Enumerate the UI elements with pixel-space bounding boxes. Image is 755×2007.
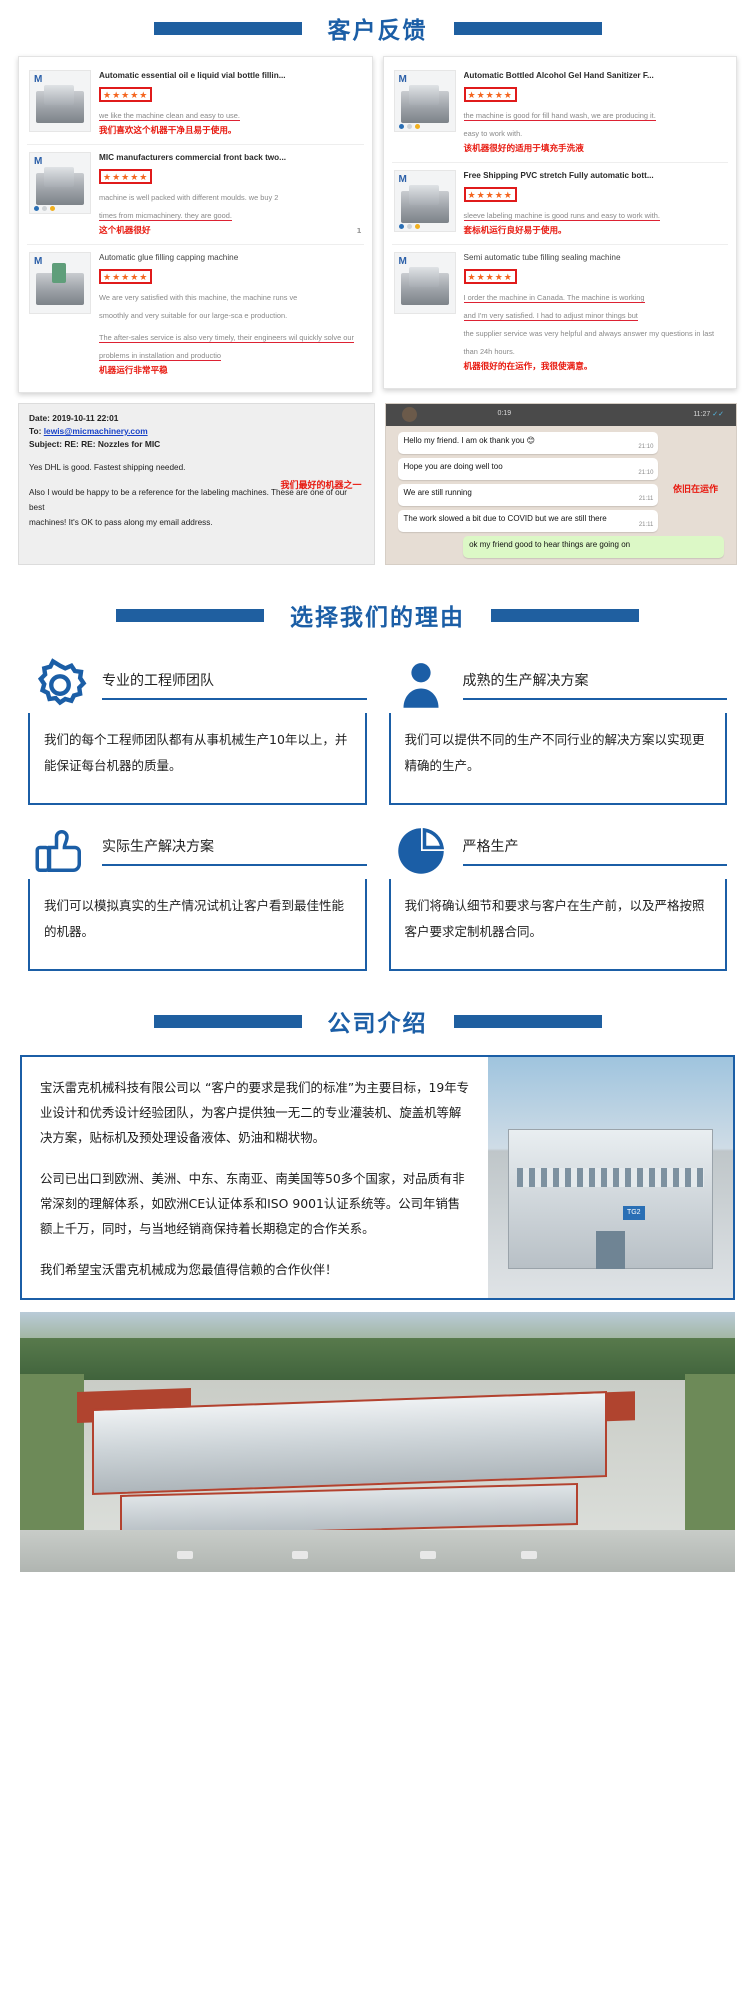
review-body: Automatic Bottled Alcohol Gel Hand Sanit… xyxy=(464,70,727,156)
review-product-title[interactable]: Semi automatic tube filling sealing mach… xyxy=(464,252,727,264)
stars-glyphs: ★★★★★ xyxy=(103,90,148,100)
company-intro: 宝沃雷克机械科技有限公司以 “客户的要求是我们的标准”为主要目标，19年专业设计… xyxy=(20,1055,735,1300)
chat-text: ok my friend good to hear things are goi… xyxy=(469,540,630,549)
product-thumbnail: M xyxy=(394,170,456,232)
review-line-1: the machine is good for fill hand wash, … xyxy=(464,111,656,121)
company-paragraph-3: 我们希望宝沃雷克机械成为您最值得信赖的合作伙伴！ xyxy=(40,1257,470,1282)
email-to-value[interactable]: lewis@micmachinery.com xyxy=(44,426,148,436)
star-rating: ★★★★★ xyxy=(464,269,517,284)
review-column-right: M Automatic Bottled Alcohol Gel Hand San… xyxy=(383,56,738,389)
email-subject-row: Subject: RE: RE: Nozzles for MIC xyxy=(29,438,364,451)
header-bar-left xyxy=(154,1015,302,1028)
machine-shape-green xyxy=(52,263,66,283)
stars-glyphs: ★★★★★ xyxy=(103,272,148,282)
whatsapp-messages: Hello my friend. I am ok thank you 😊 21:… xyxy=(394,410,729,558)
machine-shape-top xyxy=(44,85,74,105)
product-thumbnail: M xyxy=(29,252,91,314)
email-body: Yes DHL is good. Fastest shipping needed… xyxy=(29,460,364,530)
stars-glyphs: ★★★★★ xyxy=(103,172,148,182)
reason-card-production-solution: 成熟的生产解决方案 我们可以提供不同的生产不同行业的解决方案以实现更精确的生产。 xyxy=(389,657,728,805)
car xyxy=(177,1551,193,1559)
review-body: Free Shipping PVC stretch Fully automati… xyxy=(464,170,727,238)
company-paragraph-2: 公司已出口到欧洲、美洲、中东、东南亚、南美国等50多个国家，对品质有非常深刻的理… xyxy=(40,1166,470,1241)
pie-chart-icon xyxy=(393,823,449,879)
review-count: 1 xyxy=(357,225,362,238)
review-body: Automatic essential oil e liquid vial bo… xyxy=(99,70,362,138)
reason-card-real-production: 实际生产解决方案 我们可以模拟真实的生产情况试机让客户看到最佳性能的机器。 xyxy=(28,823,367,971)
reason-head: 严格生产 xyxy=(389,823,728,879)
header-bar-right xyxy=(454,1015,602,1028)
main-factory-roof xyxy=(92,1391,607,1495)
review-card[interactable]: M Automatic essential oil e liquid vial … xyxy=(27,63,364,145)
review-card[interactable]: M MIC manufacturers commercial front bac… xyxy=(27,145,364,245)
section-header-company: 公司介绍 xyxy=(0,993,755,1049)
product-thumbnail: M xyxy=(29,70,91,132)
review-line-1: sleeve labeling machine is good runs and… xyxy=(464,211,660,221)
review-text-cn: 我们喜欢这个机器干净且易于使用。 xyxy=(99,125,362,138)
review-line-2: times from micmachinery. they are good. xyxy=(99,211,232,221)
reason-title: 专业的工程师团队 xyxy=(102,670,367,700)
brand-logo-icon: M xyxy=(399,256,412,267)
chat-bubble-in: We are still running 21:11 xyxy=(398,484,659,506)
review-product-title[interactable]: Automatic essential oil e liquid vial bo… xyxy=(99,70,362,82)
reason-title: 实际生产解决方案 xyxy=(102,836,367,866)
brand-logo-icon: M xyxy=(34,156,47,167)
color-dots xyxy=(34,206,55,211)
review-body: Automatic glue filling capping machine ★… xyxy=(99,252,362,378)
star-rating: ★★★★★ xyxy=(464,87,517,102)
chat-time: 21:10 xyxy=(638,468,653,479)
review-line-1: I order the machine in Canada. The machi… xyxy=(464,293,645,303)
star-rating: ★★★★★ xyxy=(464,187,517,202)
chat-time: 21:10 xyxy=(638,442,653,453)
product-thumbnail: M xyxy=(394,70,456,132)
email-to-label: To: xyxy=(29,426,41,436)
chat-bubble-in: The work slowed a bit due to COVID but w… xyxy=(398,510,659,532)
header-bar-left xyxy=(116,609,264,622)
whatsapp-screenshot: 0:19 11:27 ✓✓ Hello my friend. I am ok t… xyxy=(385,403,738,565)
factory-windows xyxy=(517,1168,703,1187)
machine-shape-top xyxy=(409,267,439,287)
review-line-2: smoothly and very suitable for our large… xyxy=(99,311,287,320)
review-line-1: We are very satisfied with this machine,… xyxy=(99,293,297,302)
review-text-en: sleeve labeling machine is good runs and… xyxy=(464,205,727,223)
chat-bubble-in: Hope you are doing well too 21:10 xyxy=(398,458,659,480)
car xyxy=(420,1551,436,1559)
reason-head: 成熟的生产解决方案 xyxy=(389,657,728,713)
reason-text: 我们将确认细节和要求与客户在生产前，以及严格按照客户要求定制机器合同。 xyxy=(389,879,728,971)
star-rating: ★★★★★ xyxy=(99,169,152,184)
review-cn-text: 这个机器很好 xyxy=(99,226,151,236)
brand-logo-icon: M xyxy=(34,74,47,85)
car xyxy=(521,1551,537,1559)
brand-logo-icon: M xyxy=(399,74,412,85)
email-date-row: Date: 2019-10-11 22:01 xyxy=(29,412,364,425)
chat-text: Hope you are doing well too xyxy=(404,462,503,471)
factory-sign: TG2 xyxy=(623,1206,645,1220)
page-title-reasons: 选择我们的理由 xyxy=(290,598,465,632)
parking-lot xyxy=(20,1530,735,1572)
color-dots xyxy=(399,124,420,129)
chat-time: 21:11 xyxy=(639,520,654,531)
review-text-cn: 套标机运行良好易于使用。 xyxy=(464,225,727,238)
page-title-company: 公司介绍 xyxy=(328,1004,428,1038)
review-text-cn: 该机器很好的适用于填充手洗液 xyxy=(464,143,727,156)
product-thumbnail: M xyxy=(394,252,456,314)
review-product-title[interactable]: Automatic glue filling capping machine xyxy=(99,252,362,264)
gear-icon xyxy=(32,657,88,713)
review-text-en: the machine is good for fill hand wash, … xyxy=(464,105,727,141)
reason-text: 我们的每个工程师团队都有从事机械生产10年以上，并能保证每台机器的质量。 xyxy=(28,713,367,805)
person-icon xyxy=(393,657,449,713)
stars-glyphs: ★★★★★ xyxy=(468,90,513,100)
factory-door xyxy=(596,1231,625,1270)
machine-shape-top xyxy=(409,185,439,205)
car xyxy=(292,1551,308,1559)
email-date-label: Date: xyxy=(29,413,50,423)
header-bar-right xyxy=(491,609,639,622)
review-text-cn: 1这个机器很好 xyxy=(99,225,362,238)
review-text-cn: 机器运行非常平稳 xyxy=(99,365,362,378)
company-paragraph-1: 宝沃雷克机械科技有限公司以 “客户的要求是我们的标准”为主要目标，19年专业设计… xyxy=(40,1075,470,1150)
star-rating: ★★★★★ xyxy=(99,269,152,284)
chat-time: 21:11 xyxy=(639,494,654,505)
review-line-3: The after-sales service is also very tim… xyxy=(99,333,354,361)
review-text-en: We are very satisfied with this machine,… xyxy=(99,287,362,363)
header-bar-right xyxy=(454,22,602,35)
reason-text: 我们可以模拟真实的生产情况试机让客户看到最佳性能的机器。 xyxy=(28,879,367,971)
section-header-feedback: 客户反馈 xyxy=(0,0,755,56)
review-line-3: the supplier service was very helpful an… xyxy=(464,329,715,356)
email-cn-note: 我们最好的机器之一 xyxy=(280,478,361,491)
review-card[interactable]: M Automatic Bottled Alcohol Gel Hand San… xyxy=(392,63,729,163)
email-screenshot: Date: 2019-10-11 22:01 To: lewis@micmach… xyxy=(18,403,375,565)
reason-head: 实际生产解决方案 xyxy=(28,823,367,879)
page-title-feedback: 客户反馈 xyxy=(328,11,428,45)
chat-bubble-out: ok my friend good to hear things are goi… xyxy=(463,536,724,558)
color-dots xyxy=(399,224,420,229)
email-to-row: To: lewis@micmachinery.com xyxy=(29,425,364,438)
review-text-en: machine is well packed with different mo… xyxy=(99,187,362,223)
chat-text: Hello my friend. I am ok thank you 😊 xyxy=(404,436,536,445)
stars-glyphs: ★★★★★ xyxy=(468,190,513,200)
review-body: MIC manufacturers commercial front back … xyxy=(99,152,362,238)
review-line-2: easy to work with. xyxy=(464,129,523,138)
thumbs-up-icon xyxy=(32,823,88,879)
brand-logo-icon: M xyxy=(34,256,47,267)
tree-line xyxy=(20,1338,735,1380)
review-text-cn: 机器很好的在运作，我很使满意。 xyxy=(464,361,727,374)
company-text: 宝沃雷克机械科技有限公司以 “客户的要求是我们的标准”为主要目标，19年专业设计… xyxy=(22,1057,488,1298)
review-product-title[interactable]: Automatic Bottled Alcohol Gel Hand Sanit… xyxy=(464,70,727,82)
review-product-title[interactable]: Free Shipping PVC stretch Fully automati… xyxy=(464,170,727,182)
review-text-en: we like the machine clean and easy to us… xyxy=(99,105,362,123)
reasons-grid: 专业的工程师团队 我们的每个工程师团队都有从事机械生产10年以上，并能保证每台机… xyxy=(0,643,755,977)
reason-title: 成熟的生产解决方案 xyxy=(463,670,728,700)
proof-container: Date: 2019-10-11 22:01 To: lewis@micmach… xyxy=(0,393,755,565)
review-column-left: M Automatic essential oil e liquid vial … xyxy=(18,56,373,393)
brand-logo-icon: M xyxy=(399,174,412,185)
email-body-line-1: Yes DHL is good. Fastest shipping needed… xyxy=(29,460,364,475)
reviews-container: M Automatic essential oil e liquid vial … xyxy=(0,56,755,393)
factory-photo: TG2 xyxy=(488,1057,733,1298)
product-thumbnail: M xyxy=(29,152,91,214)
reason-text: 我们可以提供不同的生产不同行业的解决方案以实现更精确的生产。 xyxy=(389,713,728,805)
reason-head: 专业的工程师团队 xyxy=(28,657,367,713)
review-text-en: I order the machine in Canada. The machi… xyxy=(464,287,727,359)
review-line-1: machine is well packed with different mo… xyxy=(99,193,278,202)
stars-glyphs: ★★★★★ xyxy=(468,272,513,282)
chat-text: We are still running xyxy=(404,488,472,497)
email-subject-value: RE: RE: Nozzles for MIC xyxy=(64,439,160,449)
reason-card-engineer-team: 专业的工程师团队 我们的每个工程师团队都有从事机械生产10年以上，并能保证每台机… xyxy=(28,657,367,805)
email-subject-label: Subject: xyxy=(29,439,62,449)
review-card[interactable]: M Semi automatic tube filling sealing ma… xyxy=(392,245,729,380)
email-body-line-3: machines! It's OK to pass along my email… xyxy=(29,515,364,530)
email-date-value: 2019-10-11 22:01 xyxy=(52,413,118,423)
review-card[interactable]: M Free Shipping PVC stretch Fully automa… xyxy=(392,163,729,245)
machine-shape-top xyxy=(409,85,439,105)
star-rating: ★★★★★ xyxy=(99,87,152,102)
review-product-title[interactable]: MIC manufacturers commercial front back … xyxy=(99,152,362,164)
factory-aerial-photo xyxy=(20,1312,735,1572)
review-card[interactable]: M Automatic glue filling capping machine… xyxy=(27,245,364,384)
chat-text: The work slowed a bit due to COVID but w… xyxy=(404,514,607,523)
chat-bubble-in: Hello my friend. I am ok thank you 😊 21:… xyxy=(398,432,659,454)
machine-shape-top xyxy=(44,167,74,187)
section-header-reasons: 选择我们的理由 xyxy=(0,587,755,643)
vegetation-left xyxy=(20,1374,84,1530)
whatsapp-cn-overlay: 依旧在运作 xyxy=(673,482,718,495)
vegetation-right xyxy=(685,1374,735,1530)
reason-card-strict-production: 严格生产 我们将确认细节和要求与客户在生产前，以及严格按照客户要求定制机器合同。 xyxy=(389,823,728,971)
review-line-2: and I'm very satisfied. I had to adjust … xyxy=(464,311,638,321)
review-body: Semi automatic tube filling sealing mach… xyxy=(464,252,727,374)
review-line-1: we like the machine clean and easy to us… xyxy=(99,111,240,121)
reason-title: 严格生产 xyxy=(463,836,728,866)
header-bar-left xyxy=(154,22,302,35)
